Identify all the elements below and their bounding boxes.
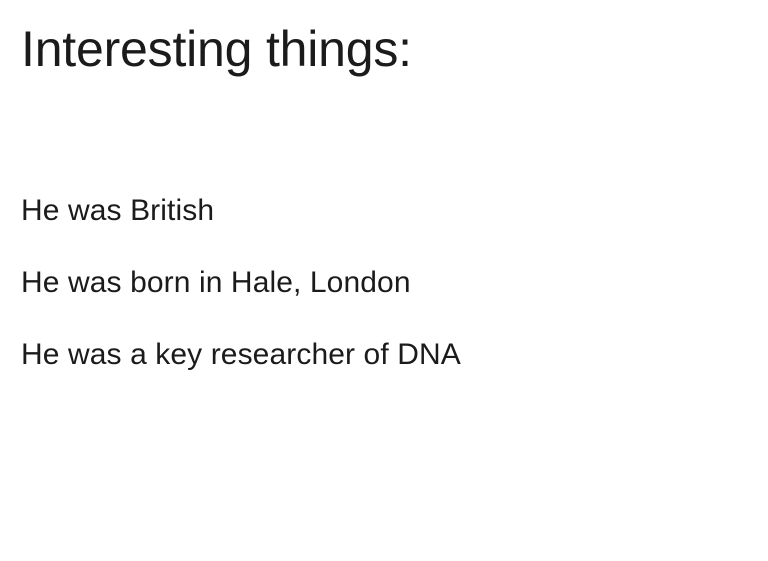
- body-line: He was a key researcher of DNA: [21, 340, 721, 370]
- slide-body-content: He was British He was born in Hale, Lond…: [21, 196, 721, 370]
- presentation-slide: Interesting things: He was British He wa…: [0, 0, 768, 561]
- body-line: He was British: [21, 196, 721, 226]
- page-title: Interesting things:: [21, 20, 412, 79]
- body-line: He was born in Hale, London: [21, 268, 721, 298]
